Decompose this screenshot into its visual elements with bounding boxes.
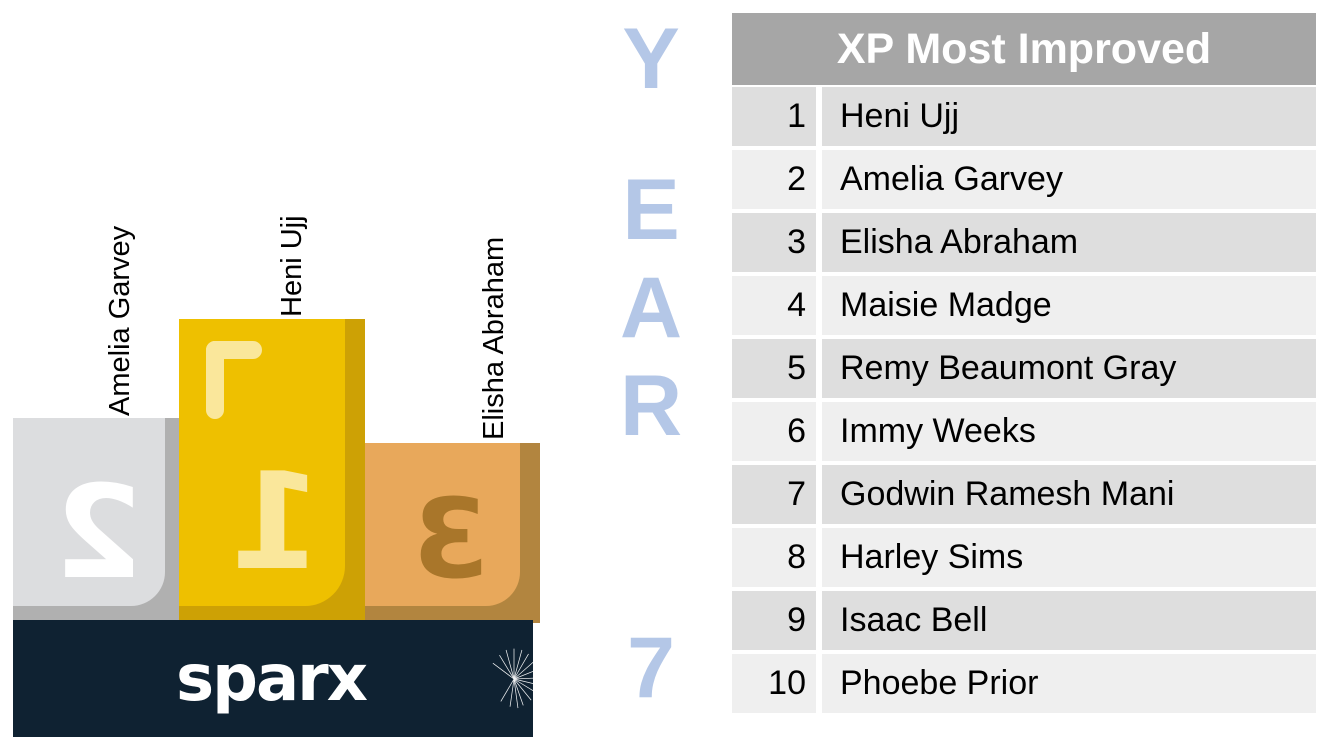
podium-scene: Amelia Garvey Heni Ujj Elisha Abraham 2 … xyxy=(0,0,540,737)
leaderboard-rank: 1 xyxy=(732,87,816,146)
podium-numeral-third: 3 xyxy=(412,484,489,594)
leaderboard-row: 10Phoebe Prior xyxy=(732,652,1316,715)
leaderboard-rank: 9 xyxy=(732,591,816,650)
year-number: 7 xyxy=(596,625,706,711)
corner-bracket-icon xyxy=(206,341,262,419)
leaderboard-row: 5Remy Beaumont Gray xyxy=(732,337,1316,400)
leaderboard-name: Heni Ujj xyxy=(822,87,1316,146)
leaderboard-name: Elisha Abraham xyxy=(822,213,1316,272)
leaderboard-table: XP Most Improved 1Heni Ujj2Amelia Garvey… xyxy=(732,13,1316,715)
podium-label-first: Heni Ujj xyxy=(276,215,309,317)
leaderboard-row: 6Immy Weeks xyxy=(732,400,1316,463)
podium-numeral-first: 1 xyxy=(229,455,322,589)
year-letter-1: Y xyxy=(596,16,706,102)
leaderboard-rank: 10 xyxy=(732,654,816,713)
leaderboard-name: Godwin Ramesh Mani xyxy=(822,465,1316,524)
starburst-icon xyxy=(481,646,547,712)
leaderboard-name: Harley Sims xyxy=(822,528,1316,587)
leaderboard-row: 3Elisha Abraham xyxy=(732,211,1316,274)
year-letter-2: E xyxy=(596,167,706,253)
leaderboard-rank: 6 xyxy=(732,402,816,461)
leaderboard-row: 2Amelia Garvey xyxy=(732,148,1316,211)
leaderboard-title: XP Most Improved xyxy=(732,13,1316,85)
leaderboard-rank: 4 xyxy=(732,276,816,335)
leaderboard-name: Isaac Bell xyxy=(822,591,1316,650)
year-letter-4: R xyxy=(596,363,706,449)
podium-base: sparx xyxy=(13,620,533,737)
leaderboard-row: 7Godwin Ramesh Mani xyxy=(732,463,1316,526)
leaderboard-rank: 3 xyxy=(732,213,816,272)
sparx-logo: sparx xyxy=(13,620,533,737)
sparx-wordmark: sparx xyxy=(176,647,370,711)
podium-label-second: Amelia Garvey xyxy=(104,226,137,416)
leaderboard-rank: 2 xyxy=(732,150,816,209)
leaderboard-name: Maisie Madge xyxy=(822,276,1316,335)
leaderboard-row: 1Heni Ujj xyxy=(732,85,1316,148)
leaderboard-row: 4Maisie Madge xyxy=(732,274,1316,337)
leaderboard-name: Amelia Garvey xyxy=(822,150,1316,209)
leaderboard-row: 9Isaac Bell xyxy=(732,589,1316,652)
leaderboard-row: 8Harley Sims xyxy=(732,526,1316,589)
leaderboard-rank: 8 xyxy=(732,528,816,587)
leaderboard-rank: 7 xyxy=(732,465,816,524)
podium-numeral-second: 2 xyxy=(54,470,143,598)
year-letter-3: A xyxy=(596,265,706,351)
podium-label-third: Elisha Abraham xyxy=(478,237,511,440)
leaderboard-name: Remy Beaumont Gray xyxy=(822,339,1316,398)
year-label: Y E A R 7 xyxy=(596,0,706,737)
leaderboard-name: Phoebe Prior xyxy=(822,654,1316,713)
leaderboard-name: Immy Weeks xyxy=(822,402,1316,461)
leaderboard-rank: 5 xyxy=(732,339,816,398)
